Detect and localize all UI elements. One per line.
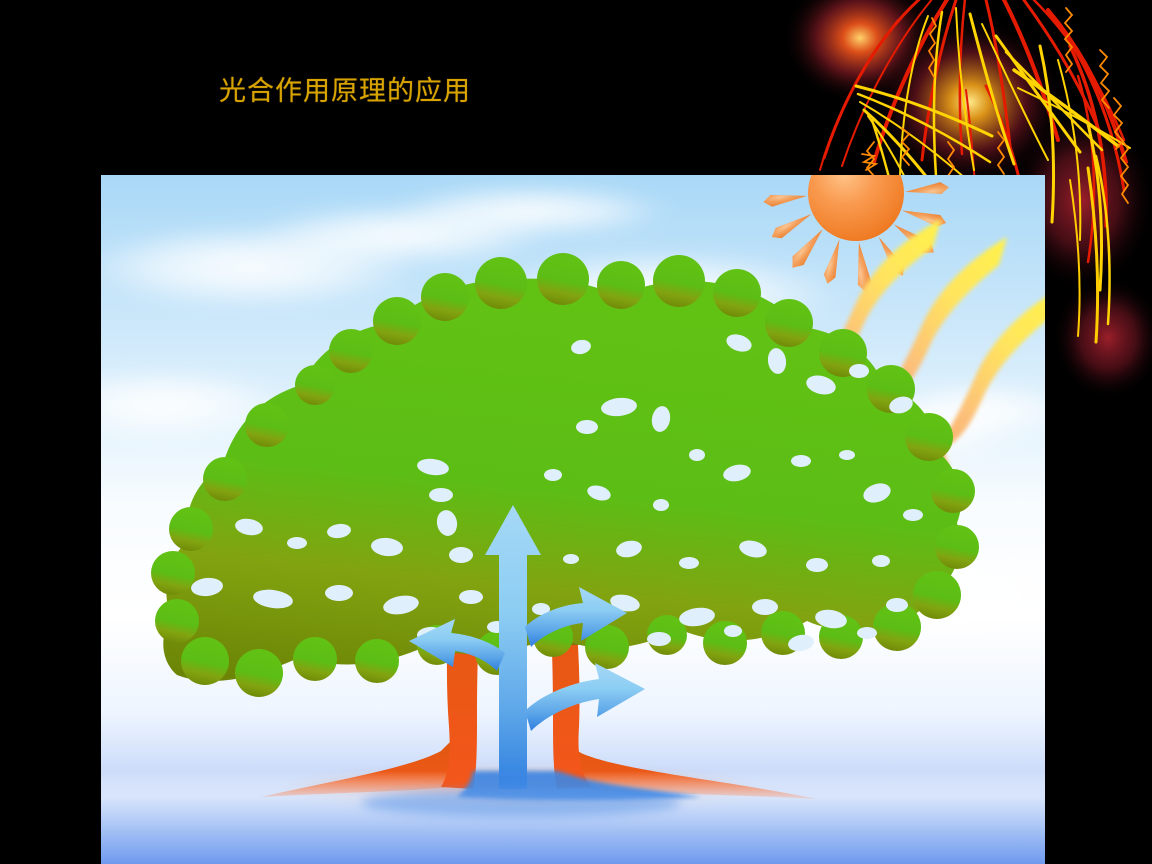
slide-canvas: 光合作用原理的应用 [0,0,1152,864]
photosynthesis-illustration [101,175,1045,864]
firework-trailing-sparks [1070,168,1098,342]
page-title: 光合作用原理的应用 [219,76,471,108]
firework-squiggles [862,8,1128,203]
